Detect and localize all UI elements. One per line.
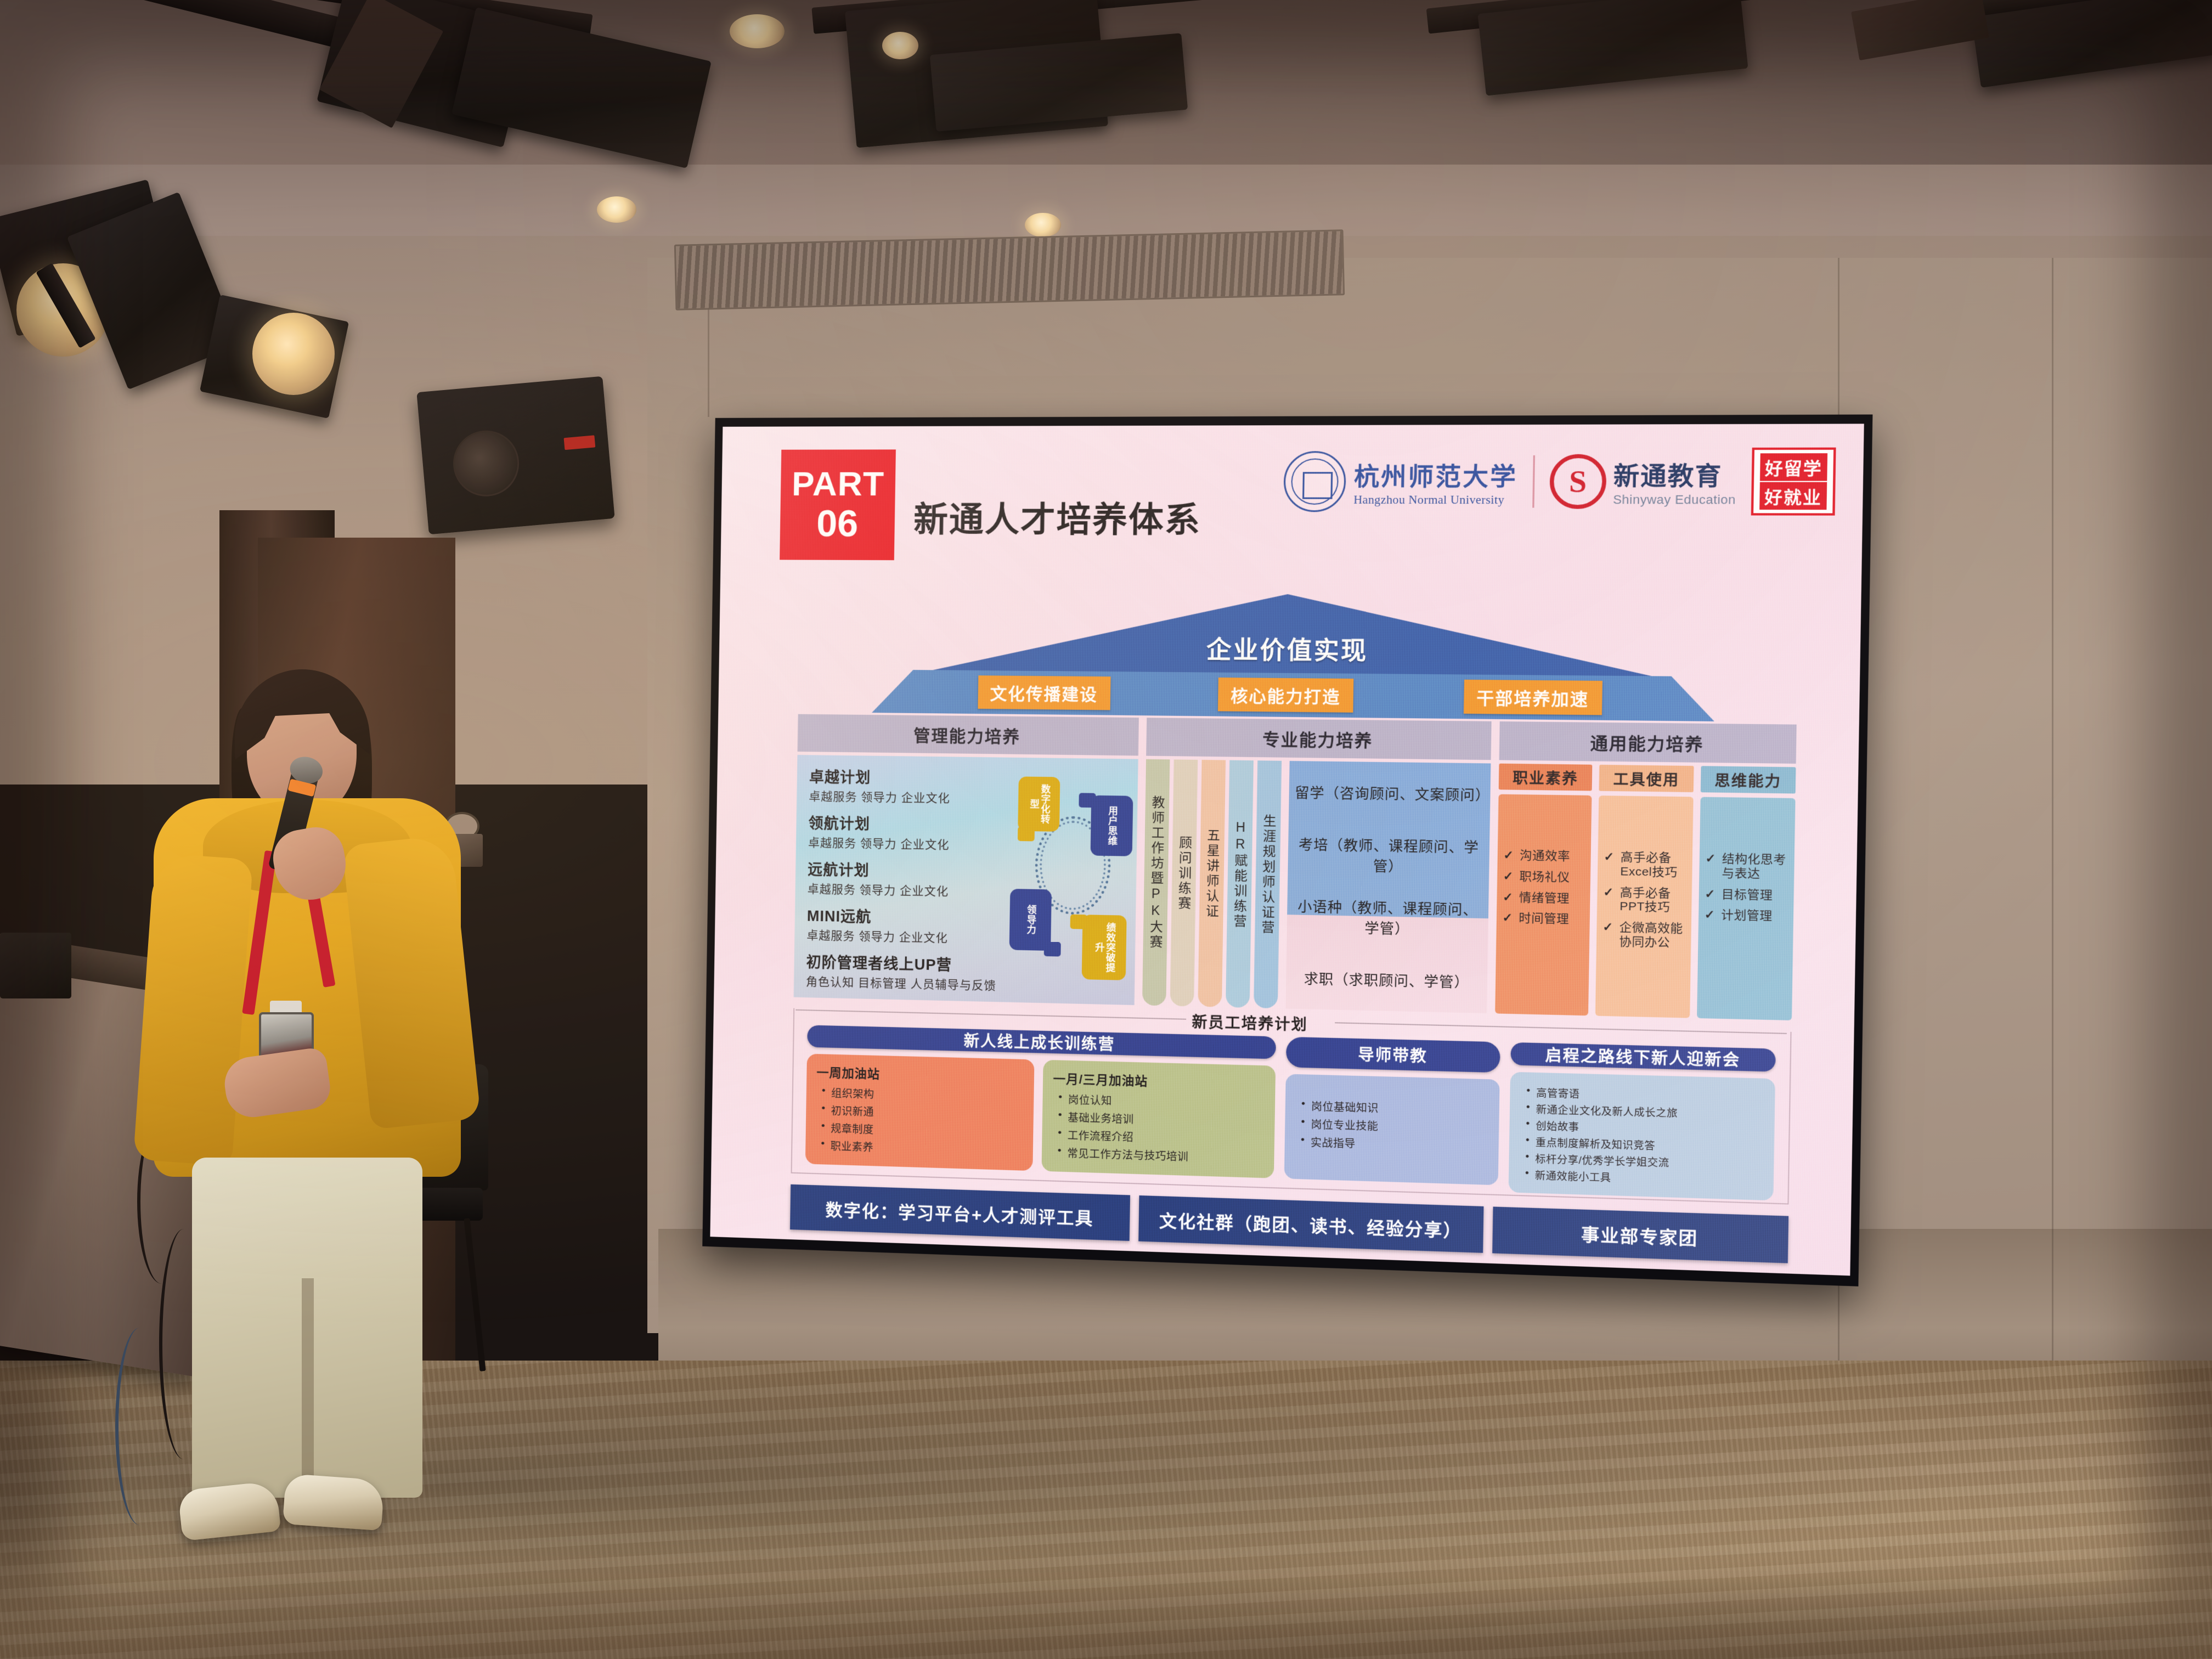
university-name-en: Hangzhou Normal University xyxy=(1353,493,1517,507)
plan-card: 一周加油站 组织架构 初识新通 规章制度 职业素养 xyxy=(805,1054,1035,1171)
plan-card-item: 组织架构 xyxy=(816,1085,1024,1105)
plan-card-item: 工作流程介绍 xyxy=(1052,1127,1265,1148)
pyramid-chip: 文化传播建设 xyxy=(978,675,1110,710)
check-icon: ✓ xyxy=(1705,887,1716,901)
bottom-bar-digital: 数字化：学习平台+人才测评工具 xyxy=(790,1184,1130,1241)
pyramid-band: 文化传播建设 核心能力打造 干部培养加速 xyxy=(872,669,1715,721)
strip-item: HR赋能训练营 xyxy=(1226,760,1254,1008)
general-subpanel-tools: 工具使用 ✓高手必备Excel技巧 ✓高手必备PPT技巧 ✓企微高效能协同办公 xyxy=(1595,765,1694,1018)
speaker-cone xyxy=(450,428,522,499)
pyramid-chip: 干部培养加速 xyxy=(1463,680,1602,715)
part-badge: PART 06 xyxy=(780,449,896,560)
company-slogan: 好留学 好就业 xyxy=(1751,448,1836,516)
general-subpanel-header: 思维能力 xyxy=(1701,766,1796,793)
general-list-item: ✓职场礼仪 xyxy=(1503,870,1588,885)
column-header-professional: 专业能力培养 xyxy=(1146,718,1492,760)
plan-panel-header: 导师带教 xyxy=(1286,1037,1500,1073)
check-icon: ✓ xyxy=(1705,852,1716,866)
general-item-label: 情绪管理 xyxy=(1519,891,1570,906)
plan-card-title: 一周加油站 xyxy=(816,1063,1024,1086)
cycle-node-label: 领导力 xyxy=(1025,905,1036,935)
plan-card-item: 职业素养 xyxy=(815,1138,1023,1159)
pyramid-apex-label: 企业价值实现 xyxy=(1206,630,1368,667)
plan-card-item: 初识新通 xyxy=(816,1103,1023,1124)
check-icon: ✓ xyxy=(1602,921,1613,935)
plan-panel-mentoring: 导师带教 岗位基础知识 岗位专业技能 实战指导 xyxy=(1284,1037,1500,1186)
logo-row: 杭州师范大学 Hangzhou Normal University S 新通教育… xyxy=(1283,441,1836,522)
check-icon: ✓ xyxy=(1604,850,1615,865)
general-item-label: 时间管理 xyxy=(1519,912,1569,927)
professional-item: 求职（求职顾问、学管） xyxy=(1286,947,1488,1013)
general-subpanel-body: ✓沟通效率 ✓职场礼仪 ✓情绪管理 ✓时间管理 xyxy=(1495,794,1592,1016)
professional-panel: 留学（咨询顾问、文案顾问） 考培（教师、课程顾问、学管） 小语种（教师、课程顾问… xyxy=(1286,761,1491,1013)
cycle-node: 数字化转型 xyxy=(1018,776,1060,832)
university-seal-icon xyxy=(1283,451,1346,512)
slide-body: 卓越计划 卓越服务 领导力 企业文化 领航计划 卓越服务 领导力 企业文化 远航… xyxy=(794,755,1796,1020)
general-list-item: ✓结构化思考与表达 xyxy=(1705,852,1791,882)
strip-label: 教师工作坊暨PK大赛 xyxy=(1145,795,1167,950)
general-subpanel-header: 工具使用 xyxy=(1599,765,1694,792)
plan-card-item: 岗位基础知识 xyxy=(1295,1098,1489,1119)
cycle-node-label: 绩效突破提升 xyxy=(1093,918,1116,977)
cycle-node-label: 用户思维 xyxy=(1106,805,1118,846)
professional-item: 小语种（教师、课程顾问、学管） xyxy=(1286,885,1489,951)
presentation-slide: PART 06 新通人才培养体系 杭州师范大学 Hangzhou Normal … xyxy=(710,424,1864,1276)
new-employee-plan-box: 新人线上成长训练营 一周加油站 组织架构 初识新通 规章制度 职业素养 xyxy=(791,1008,1792,1205)
plan-card-item: 规章制度 xyxy=(816,1120,1023,1141)
strip-item: 五星讲师认证 xyxy=(1198,760,1226,1007)
strip-label: 顾问训练赛 xyxy=(1173,836,1194,912)
pyramid-chip: 核心能力打造 xyxy=(1218,678,1353,713)
strip-item: 顾问训练赛 xyxy=(1170,759,1198,1006)
check-icon: ✓ xyxy=(1502,911,1513,926)
part-number: 06 xyxy=(816,505,859,543)
cycle-node-tab xyxy=(1079,793,1096,808)
check-icon: ✓ xyxy=(1503,890,1514,905)
professional-item: 留学（咨询顾问、文案顾问） xyxy=(1289,761,1491,826)
general-list-item: ✓高手必备PPT技巧 xyxy=(1603,885,1688,915)
competency-cycle-diagram: 数字化转型 用户思维 领导力 绩效突破提升 xyxy=(1008,768,1133,992)
management-panel: 卓越计划 卓越服务 领导力 企业文化 领航计划 卓越服务 领导力 企业文化 远航… xyxy=(794,755,1138,1005)
general-subpanel-thinking: 思维能力 ✓结构化思考与表达 ✓目标管理 ✓计划管理 xyxy=(1697,766,1796,1020)
plan-panel-bootcamp: 新人线上成长训练营 一周加油站 组织架构 初识新通 规章制度 职业素养 xyxy=(805,1025,1276,1178)
strip-item: 教师工作坊暨PK大赛 xyxy=(1142,759,1170,1006)
strip-label: HR赋能训练营 xyxy=(1229,820,1251,929)
general-list-item: ✓计划管理 xyxy=(1704,909,1790,924)
general-list-item: ✓目标管理 xyxy=(1705,887,1790,903)
plan-card-item: 岗位认知 xyxy=(1053,1091,1265,1112)
plan-panel-header: 新人线上成长训练营 xyxy=(807,1025,1276,1059)
wall-seam xyxy=(2052,258,2053,1393)
general-subpanel-body: ✓结构化思考与表达 ✓目标管理 ✓计划管理 xyxy=(1697,797,1796,1020)
plan-card-item: 常见工作方法与技巧培训 xyxy=(1052,1145,1264,1166)
ceiling-downlight xyxy=(882,32,918,59)
general-item-label: 企微高效能协同办公 xyxy=(1619,921,1688,951)
plan-panel-orientation: 启程之路线下新人迎新会 高管寄语 新通企业文化及新人成长之旅 创始故事 重点制度… xyxy=(1509,1042,1776,1194)
check-icon: ✓ xyxy=(1603,885,1614,900)
column-header-general: 通用能力培养 xyxy=(1499,721,1797,764)
pyramid-apex: 企业价值实现 xyxy=(918,592,1669,680)
shinyway-s-icon: S xyxy=(1549,454,1606,509)
plan-card-item: 基础业务培训 xyxy=(1052,1109,1265,1130)
bottom-bar-culture: 文化社群（跑团、读书、经验分享） xyxy=(1138,1195,1483,1253)
ceiling-downlight xyxy=(597,196,636,223)
photo-scene: PART 06 新通人才培养体系 杭州师范大学 Hangzhou Normal … xyxy=(0,0,2212,1659)
ceiling-downlight xyxy=(1025,213,1061,237)
university-name-cn: 杭州师范大学 xyxy=(1353,456,1517,493)
cycle-node-tab xyxy=(1044,942,1061,957)
presenter xyxy=(110,675,527,1564)
general-item-label: 高手必备Excel技巧 xyxy=(1620,851,1689,881)
general-list-item: ✓高手必备Excel技巧 xyxy=(1604,850,1689,880)
check-icon: ✓ xyxy=(1704,909,1715,923)
general-item-label: 职场礼仪 xyxy=(1519,870,1570,885)
wall-loudspeaker xyxy=(416,376,614,535)
general-item-label: 高手必备PPT技巧 xyxy=(1620,886,1688,916)
plan-card: 一月/三月加油站 岗位认知 基础业务培训 工作流程介绍 常见工作方法与技巧培训 xyxy=(1042,1060,1276,1178)
trouser-shadow xyxy=(302,1278,314,1498)
cycle-node-label: 数字化转型 xyxy=(1028,780,1050,828)
general-subpanel-career: 职业素养 ✓沟通效率 ✓职场礼仪 ✓情绪管理 ✓时间管理 xyxy=(1495,764,1593,1016)
cycle-node-tab xyxy=(1018,827,1035,842)
professional-item: 考培（教师、课程顾问、学管） xyxy=(1288,823,1490,888)
general-item-label: 目标管理 xyxy=(1722,888,1773,903)
plan-panel-header: 启程之路线下新人迎新会 xyxy=(1510,1042,1775,1072)
cycle-node: 绩效突破提升 xyxy=(1082,915,1127,980)
plan-card: 高管寄语 新通企业文化及新人成长之旅 创始故事 重点制度解析及知识竞答 标杆分享… xyxy=(1509,1072,1775,1201)
plan-card-title: 一月/三月加油站 xyxy=(1053,1069,1265,1093)
general-panel: 职业素养 ✓沟通效率 ✓职场礼仪 ✓情绪管理 ✓时间管理 工具使用 xyxy=(1495,764,1796,1020)
plan-card-item: 实战指导 xyxy=(1295,1134,1488,1155)
general-item-label: 计划管理 xyxy=(1721,909,1773,924)
cycle-node-tab xyxy=(1070,915,1087,929)
strip-item: 生涯规划师认证营 xyxy=(1254,760,1282,1008)
general-item-label: 沟通效率 xyxy=(1520,849,1570,864)
check-icon: ✓ xyxy=(1503,849,1514,863)
plan-card-item: 岗位专业技能 xyxy=(1295,1116,1489,1137)
general-list-item: ✓时间管理 xyxy=(1502,911,1587,927)
bottom-bar-experts: 事业部专家团 xyxy=(1492,1206,1788,1263)
plan-card: 岗位基础知识 岗位专业技能 实战指导 xyxy=(1284,1074,1500,1186)
general-list-item: ✓企微高效能协同办公 xyxy=(1602,921,1688,951)
ceiling-downlight xyxy=(730,14,785,48)
company-name-cn: 新通教育 xyxy=(1613,456,1736,493)
part-label: PART xyxy=(792,466,885,501)
slogan-line-1: 好留学 xyxy=(1760,453,1827,481)
slogan-line-2: 好就业 xyxy=(1759,482,1827,510)
university-logo: 杭州师范大学 Hangzhou Normal University xyxy=(1283,451,1518,512)
strip-label: 五星讲师认证 xyxy=(1201,828,1222,919)
general-subpanel-header: 职业素养 xyxy=(1499,764,1593,791)
slide-title: 新通人才培养体系 xyxy=(913,492,1201,542)
general-subpanel-body: ✓高手必备Excel技巧 ✓高手必备PPT技巧 ✓企微高效能协同办公 xyxy=(1595,795,1693,1018)
certification-strips: 教师工作坊暨PK大赛 顾问训练赛 五星讲师认证 HR赋能训练营 生涯规划师认证营 xyxy=(1142,759,1282,1008)
general-list-item: ✓沟通效率 xyxy=(1503,849,1588,864)
speaker-brand-badge xyxy=(564,435,596,450)
spotlight-lens xyxy=(252,313,335,395)
led-display-screen: PART 06 新通人才培养体系 杭州师范大学 Hangzhou Normal … xyxy=(702,415,1872,1286)
check-icon: ✓ xyxy=(1503,870,1514,884)
confidence-monitor xyxy=(0,933,71,998)
column-header-management: 管理能力培养 xyxy=(798,714,1139,756)
general-list-item: ✓情绪管理 xyxy=(1503,890,1587,906)
strip-label: 生涯规划师认证营 xyxy=(1257,814,1278,936)
company-logo: S 新通教育 Shinyway Education xyxy=(1549,454,1736,509)
cycle-node: 用户思维 xyxy=(1091,795,1133,856)
general-item-label: 结构化思考与表达 xyxy=(1722,853,1791,882)
company-name-en: Shinyway Education xyxy=(1613,493,1736,507)
logo-divider xyxy=(1532,455,1535,507)
